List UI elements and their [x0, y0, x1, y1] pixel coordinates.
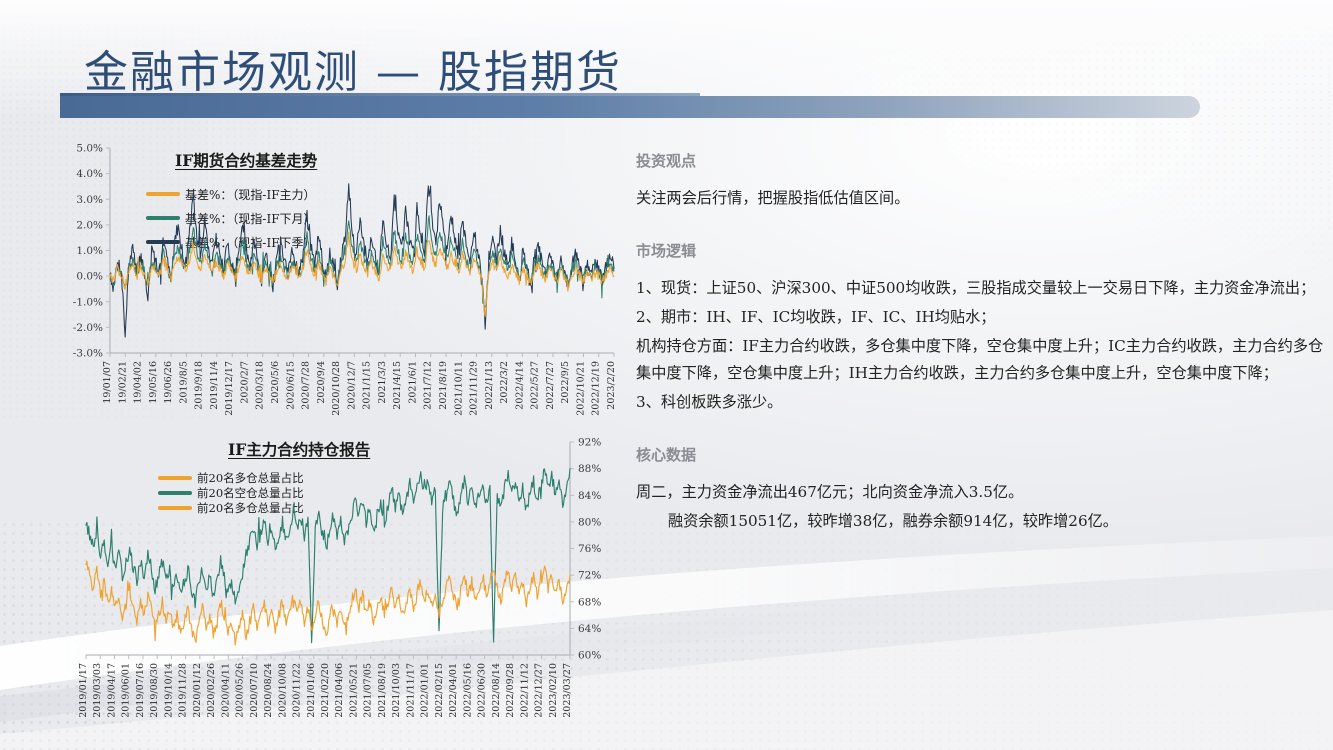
svg-text:-2.0%: -2.0%: [73, 322, 103, 334]
svg-text:2022/08/14: 2022/08/14: [491, 663, 502, 717]
svg-text:2019/10/14: 2019/10/14: [163, 663, 174, 717]
svg-text:2021/11/29: 2021/11/29: [469, 361, 480, 416]
svg-text:-3.0%: -3.0%: [73, 348, 103, 360]
svg-text:2019/12/17: 2019/12/17: [224, 361, 235, 416]
svg-text:2020/07/10: 2020/07/10: [249, 663, 260, 717]
svg-text:80%: 80%: [578, 516, 601, 528]
svg-text:2021/02/20: 2021/02/20: [320, 663, 331, 717]
svg-text:2021/01/06: 2021/01/06: [306, 663, 317, 717]
svg-text:2019/8/5: 2019/8/5: [178, 361, 189, 404]
svg-text:1.0%: 1.0%: [76, 245, 103, 257]
svg-text:2020/05/26: 2020/05/26: [235, 663, 246, 717]
section-investment-view: 投资观点 关注两会后行情，把握股指低估值区间。: [636, 150, 1326, 212]
svg-text:64%: 64%: [578, 623, 601, 635]
section-paragraph: 机构持仓方面：IF主力合约收跌，多仓集中度下降，空仓集中度上升；IC主力合约收跌…: [636, 333, 1326, 387]
svg-text:2021/7/12: 2021/7/12: [423, 361, 434, 410]
svg-text:2021/1/15: 2021/1/15: [362, 361, 373, 410]
svg-text:2.0%: 2.0%: [76, 219, 103, 231]
svg-text:2019/03/03: 2019/03/03: [92, 663, 103, 717]
svg-text:2020/04/11: 2020/04/11: [220, 663, 231, 717]
svg-text:2021/05/21: 2021/05/21: [349, 663, 360, 717]
svg-text:2020/3/18: 2020/3/18: [255, 361, 266, 410]
svg-text:2020/12/7: 2020/12/7: [346, 361, 357, 410]
svg-text:2020/10/08: 2020/10/08: [277, 663, 288, 717]
svg-text:4.0%: 4.0%: [76, 168, 103, 180]
svg-text:2022/11/12: 2022/11/12: [519, 663, 530, 717]
svg-text:2021/04/06: 2021/04/06: [334, 663, 345, 717]
svg-text:2023/03/27: 2023/03/27: [562, 663, 573, 717]
svg-text:19/01/07: 19/01/07: [102, 361, 113, 404]
svg-text:2019/07/16: 2019/07/16: [135, 663, 146, 717]
svg-text:2019/04/17: 2019/04/17: [107, 663, 118, 717]
chart1-canvas: 5.0%4.0%3.0%2.0%1.0%0.0%-1.0%-2.0%-3.0%1…: [62, 140, 622, 425]
svg-text:2021/11/17: 2021/11/17: [405, 663, 416, 717]
svg-text:19/06/26: 19/06/26: [163, 361, 174, 404]
section-paragraph: 3、科创板跌多涨少。: [636, 389, 1326, 416]
chart2-canvas: 92%88%84%80%76%72%68%64%60%2019/01/17201…: [62, 432, 622, 717]
svg-text:88%: 88%: [578, 463, 601, 475]
svg-text:2021/10/11: 2021/10/11: [453, 361, 464, 416]
svg-text:2021/8/19: 2021/8/19: [438, 361, 449, 410]
svg-text:2020/2/7: 2020/2/7: [240, 361, 251, 404]
header-accent-bar: [60, 96, 1200, 118]
svg-text:76%: 76%: [578, 543, 601, 555]
svg-text:68%: 68%: [578, 596, 601, 608]
section-heading: 投资观点: [636, 150, 1326, 171]
svg-text:2022/02/15: 2022/02/15: [434, 663, 445, 717]
section-core-data: 核心数据 周二，主力资金净流出467亿元；北向资金净流入3.5亿。 融资余额15…: [636, 444, 1326, 535]
commentary-panel: 投资观点 关注两会后行情，把握股指低估值区间。 市场逻辑 1、现货：上证50、沪…: [636, 150, 1326, 563]
svg-text:2020/08/24: 2020/08/24: [263, 663, 274, 717]
svg-text:2020/9/4: 2020/9/4: [316, 361, 327, 404]
svg-text:84%: 84%: [578, 490, 601, 502]
svg-text:2021/07/05: 2021/07/05: [363, 663, 374, 717]
svg-text:2022/3/2: 2022/3/2: [499, 361, 510, 404]
svg-text:2023/2/20: 2023/2/20: [606, 361, 617, 410]
svg-text:2021/6/1: 2021/6/1: [408, 361, 419, 404]
svg-text:2022/04/01: 2022/04/01: [448, 663, 459, 717]
svg-text:2022/9/5: 2022/9/5: [560, 361, 571, 404]
svg-text:2021/3/3: 2021/3/3: [377, 361, 388, 404]
svg-text:2019/9/18: 2019/9/18: [194, 361, 205, 410]
svg-text:2020/7/28: 2020/7/28: [301, 361, 312, 410]
svg-text:2022/5/27: 2022/5/27: [530, 361, 541, 410]
svg-text:2022/7/27: 2022/7/27: [545, 361, 556, 410]
svg-text:19/04/02: 19/04/02: [133, 361, 144, 404]
chart-if-main-contract-positions: 92%88%84%80%76%72%68%64%60%2019/01/17201…: [62, 432, 622, 717]
svg-text:-1.0%: -1.0%: [73, 296, 103, 308]
svg-text:2022/12/19: 2022/12/19: [591, 361, 602, 416]
section-paragraph: 周二，主力资金净流出467亿元；北向资金净流入3.5亿。: [636, 479, 1326, 506]
svg-text:2022/09/28: 2022/09/28: [505, 663, 516, 717]
svg-text:2022/05/16: 2022/05/16: [462, 663, 473, 717]
section-heading: 市场逻辑: [636, 240, 1326, 261]
svg-text:5.0%: 5.0%: [76, 143, 103, 155]
svg-text:2020/5/6: 2020/5/6: [270, 361, 281, 404]
svg-text:2020/6/15: 2020/6/15: [285, 361, 296, 410]
svg-text:72%: 72%: [578, 570, 601, 582]
svg-text:2020/01/12: 2020/01/12: [192, 663, 203, 717]
svg-text:60%: 60%: [578, 650, 601, 662]
svg-text:19/02/21: 19/02/21: [117, 361, 128, 404]
svg-text:2019/06/01: 2019/06/01: [121, 663, 132, 717]
svg-text:2021/10/03: 2021/10/03: [391, 663, 402, 717]
svg-text:2020/11/22: 2020/11/22: [292, 663, 303, 717]
svg-text:2022/1/13: 2022/1/13: [484, 361, 495, 410]
svg-text:2022/4/14: 2022/4/14: [514, 361, 525, 410]
svg-text:2023/02/10: 2023/02/10: [548, 663, 559, 717]
svg-text:2021/4/15: 2021/4/15: [392, 361, 403, 410]
svg-text:2019/08/30: 2019/08/30: [149, 663, 160, 717]
section-paragraph: 1、现货：上证50、沪深300、中证500均收跌，三股指成交量较上一交易日下降，…: [636, 275, 1326, 302]
svg-text:2019/01/17: 2019/01/17: [78, 663, 89, 717]
section-heading: 核心数据: [636, 444, 1326, 465]
svg-text:2019/11/28: 2019/11/28: [178, 663, 189, 717]
section-paragraph: 2、期市：IH、IF、IC均收跌，IF、IC、IH均贴水；: [636, 304, 1326, 331]
svg-text:2019/11/4: 2019/11/4: [209, 361, 220, 410]
svg-text:19/05/16: 19/05/16: [148, 361, 159, 404]
section-market-logic: 市场逻辑 1、现货：上证50、沪深300、中证500均收跌，三股指成交量较上一交…: [636, 240, 1326, 416]
section-paragraph: 融资余额15051亿，较昨增38亿，融券余额914亿，较昨增26亿。: [636, 508, 1326, 535]
svg-text:2022/01/01: 2022/01/01: [420, 663, 431, 717]
svg-text:0.0%: 0.0%: [76, 271, 103, 283]
svg-text:2022/12/27: 2022/12/27: [534, 663, 545, 717]
section-paragraph: 关注两会后行情，把握股指低估值区间。: [636, 185, 1326, 212]
svg-text:92%: 92%: [578, 437, 601, 449]
svg-text:2022/10/21: 2022/10/21: [576, 361, 587, 416]
page-title: 金融市场观测 — 股指期货: [84, 36, 622, 100]
svg-text:3.0%: 3.0%: [76, 194, 103, 206]
svg-text:2021/08/19: 2021/08/19: [377, 663, 388, 717]
svg-text:2020/10/28: 2020/10/28: [331, 361, 342, 416]
chart-if-basis-trend: 5.0%4.0%3.0%2.0%1.0%0.0%-1.0%-2.0%-3.0%1…: [62, 140, 622, 425]
svg-text:2022/06/30: 2022/06/30: [477, 663, 488, 717]
svg-text:2020/02/26: 2020/02/26: [206, 663, 217, 717]
